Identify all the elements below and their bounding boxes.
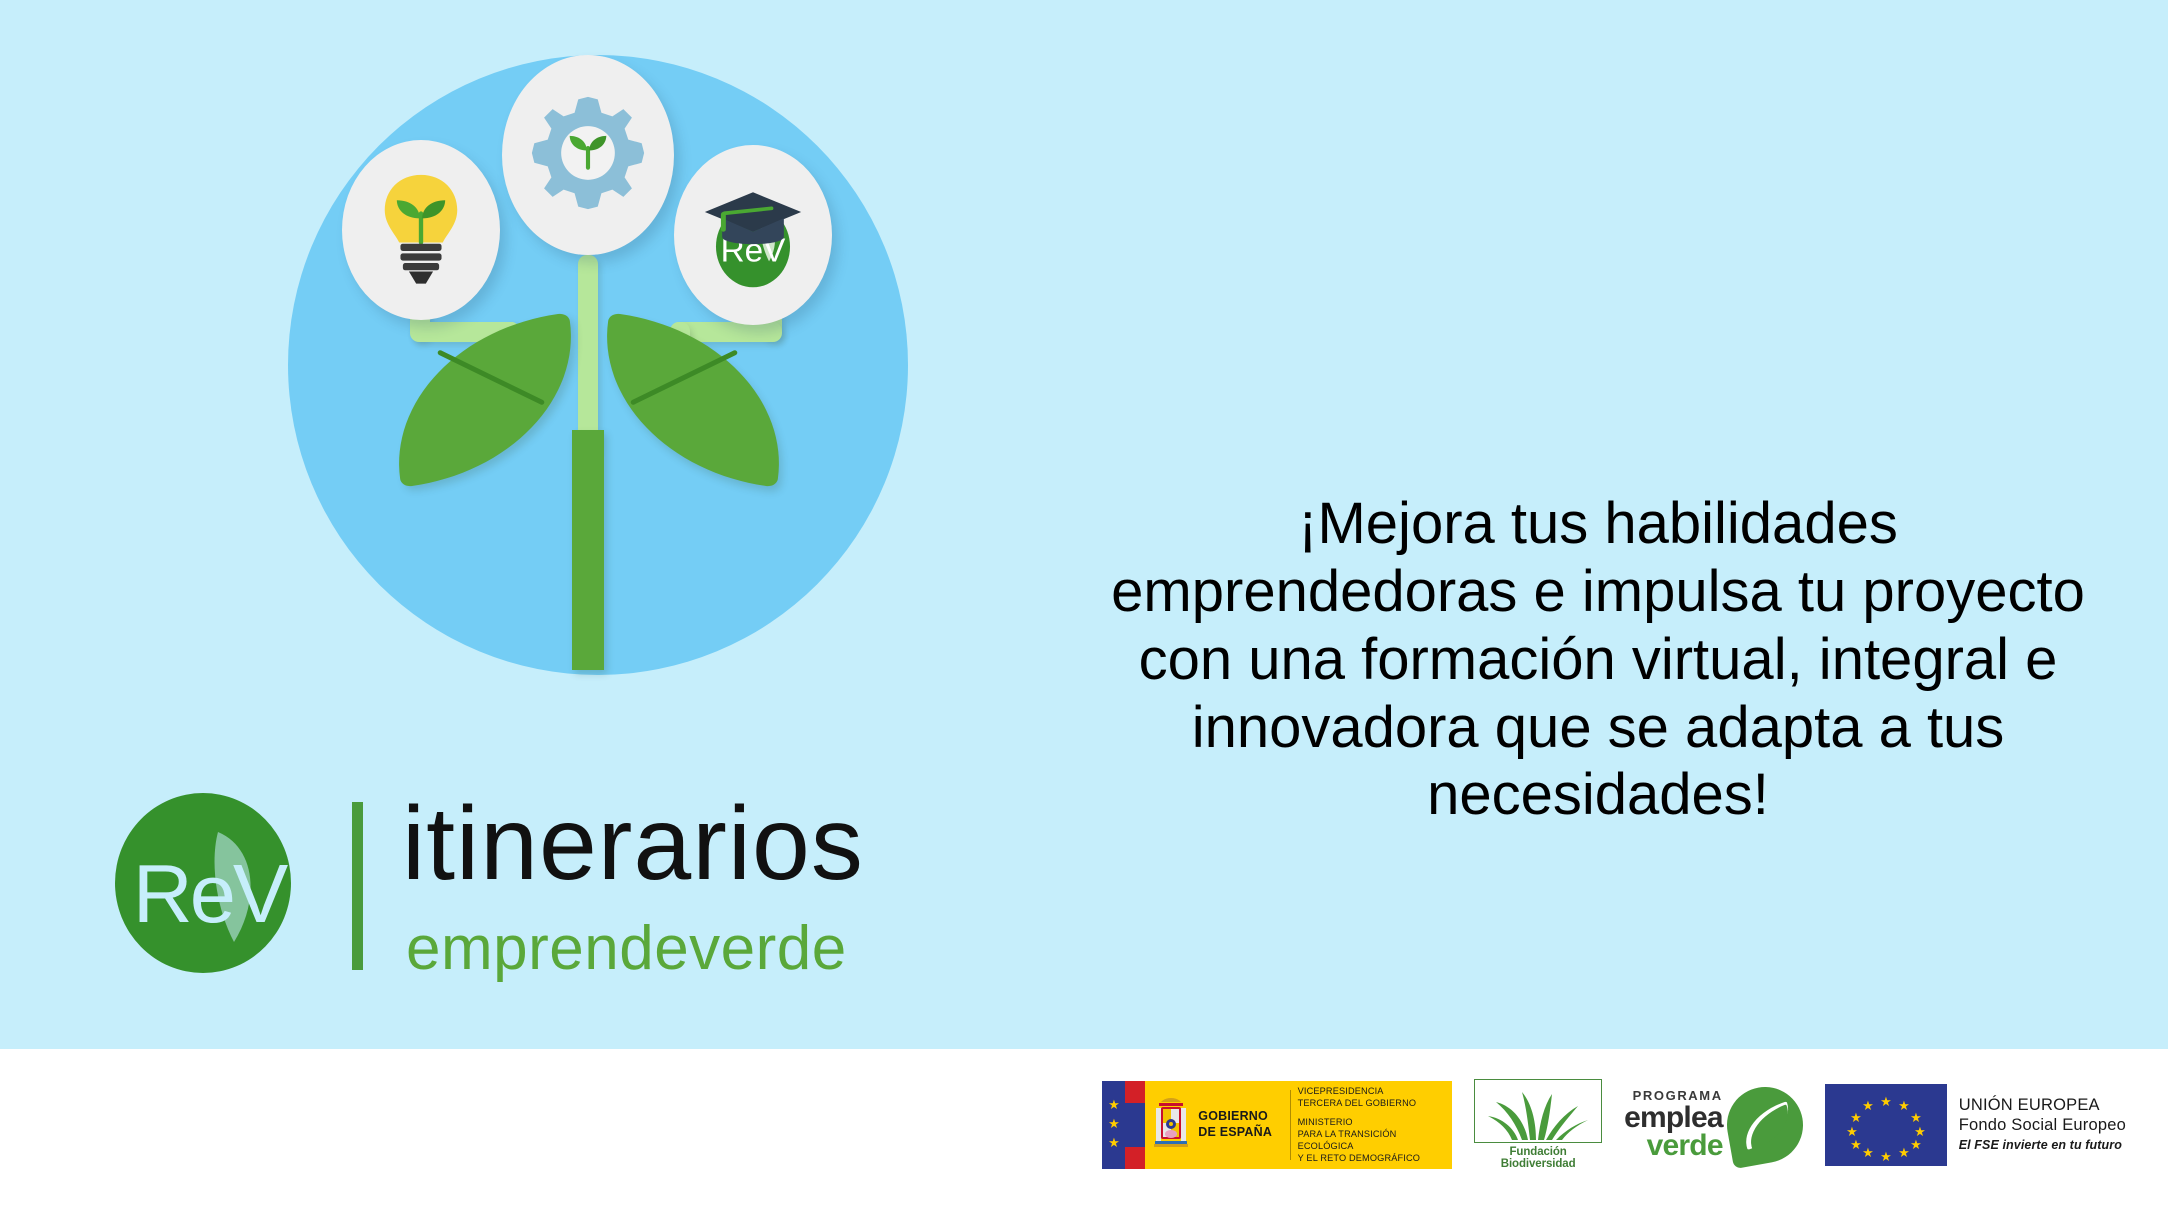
- gobierno-de-espana-logo: ★★★: [1102, 1081, 1452, 1169]
- main-stalk: [572, 430, 604, 670]
- eu-line-1: UNIÓN EUROPEA: [1959, 1096, 2126, 1116]
- flag-red-bottom: [1125, 1147, 1145, 1169]
- gear-sprout-icon: [527, 92, 649, 219]
- fundacion-biodiversidad-logo: Fundación Biodiversidad: [1474, 1079, 1602, 1170]
- flag-red-top: [1125, 1081, 1145, 1103]
- lightbulb-leaf-icon: [369, 170, 473, 291]
- svg-text:★: ★: [1850, 1110, 1862, 1125]
- ministerio-line-3: Y EL RETO DEMOGRÁFICO: [1298, 1152, 1453, 1164]
- logo-word-emprendeverde: emprendeverde: [406, 918, 847, 980]
- emplea-verde-leaf-icon: [1721, 1080, 1809, 1168]
- svg-text:★: ★: [1898, 1145, 1910, 1160]
- fundacion-label: Fundación Biodiversidad: [1474, 1146, 1602, 1170]
- gobierno-separator: [1290, 1090, 1291, 1160]
- svg-text:★: ★: [1880, 1094, 1892, 1109]
- eu-flag-icon: ★ ★ ★ ★ ★ ★ ★ ★ ★ ★ ★ ★: [1825, 1084, 1947, 1166]
- vicepresidencia-line-1: VICEPRESIDENCIA: [1298, 1085, 1453, 1097]
- footer-bar: ★★★: [0, 1049, 2168, 1217]
- eu-line-2: Fondo Social Europeo: [1959, 1116, 2126, 1136]
- hero-panel: ReV ReV itinerarios empren: [0, 0, 2168, 1049]
- svg-text:★: ★: [1880, 1149, 1892, 1164]
- emplea-verde-wordmark: PROGRAMA emplea verde: [1624, 1089, 1723, 1161]
- eu-line-3: El FSE invierte en tu futuro: [1959, 1138, 2126, 1153]
- plant-illustration: ReV: [250, 30, 930, 790]
- svg-text:★: ★: [1862, 1098, 1874, 1113]
- headline-text: ¡Mejora tus habilidades emprendedoras e …: [1098, 490, 2098, 829]
- rev-logo-text: ReV: [124, 846, 294, 942]
- svg-text:★: ★: [1910, 1110, 1922, 1125]
- emplea-verde-verde: verde: [1624, 1131, 1723, 1161]
- gobierno-name: GOBIERNO DE ESPAÑA: [1196, 1081, 1282, 1169]
- svg-text:★: ★: [1898, 1098, 1910, 1113]
- ministerio-line-2: PARA LA TRANSICIÓN ECOLÓGICA: [1298, 1128, 1453, 1152]
- gobierno-line-1: GOBIERNO: [1198, 1109, 1272, 1125]
- spain-coat-of-arms-icon: [1145, 1081, 1196, 1169]
- graduation-cap-rev-icon: ReV: [697, 175, 809, 296]
- bloom-training-cap: ReV: [674, 145, 832, 325]
- emplea-verde-emplea: emplea: [1624, 1103, 1723, 1133]
- slide-canvas: ReV ReV itinerarios empren: [0, 0, 2168, 1217]
- fundacion-grass-icon: [1474, 1079, 1602, 1143]
- vicepresidencia-line-2: TERCERA DEL GOBIERNO: [1298, 1097, 1453, 1109]
- gobierno-line-2: DE ESPAÑA: [1198, 1125, 1272, 1141]
- bloom-process-gear: [502, 55, 674, 255]
- ministerio-line-1: MINISTERIO: [1298, 1116, 1453, 1128]
- svg-text:★: ★: [1850, 1137, 1862, 1152]
- svg-text:★: ★: [1862, 1145, 1874, 1160]
- union-europea-logo: ★ ★ ★ ★ ★ ★ ★ ★ ★ ★ ★ ★: [1825, 1084, 2126, 1166]
- spain-eu-flag-bar: ★★★: [1102, 1081, 1145, 1169]
- logo-divider: [352, 802, 363, 970]
- footer-logo-row: ★★★: [1102, 1079, 2126, 1170]
- emplea-verde-logo: PROGRAMA emplea verde: [1624, 1087, 1803, 1163]
- eu-stars-icon: ★★★: [1108, 1095, 1120, 1152]
- bloom-innovation-bulb: [342, 140, 500, 320]
- svg-text:★: ★: [1910, 1137, 1922, 1152]
- emplea-verde-programa: PROGRAMA: [1624, 1089, 1723, 1102]
- brand-logo-lockup: ReV itinerarios emprendeverde: [110, 790, 940, 990]
- stem-center: [578, 255, 598, 455]
- ministerio-block: VICEPRESIDENCIA TERCERA DEL GOBIERNO MIN…: [1298, 1081, 1453, 1169]
- eu-text-block: UNIÓN EUROPEA Fondo Social Europeo El FS…: [1959, 1096, 2126, 1154]
- logo-word-itinerarios: itinerarios: [402, 792, 864, 896]
